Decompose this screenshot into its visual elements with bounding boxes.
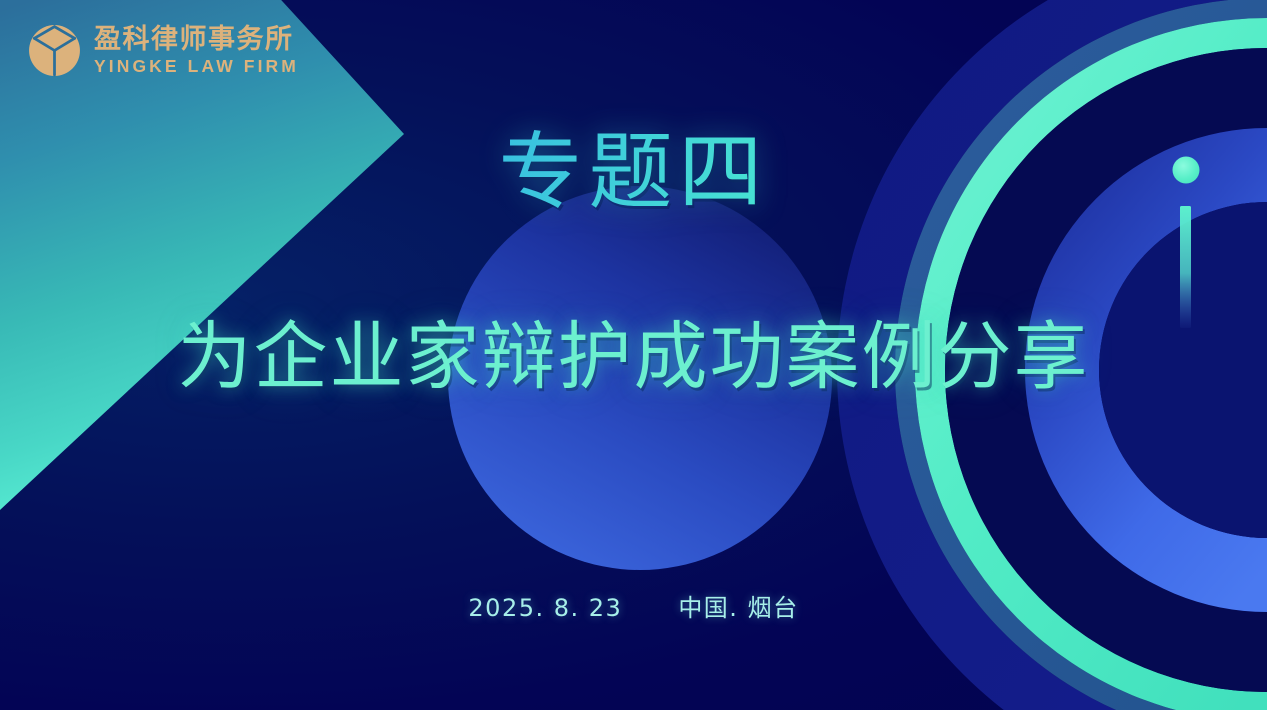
presentation-slide: 盈科律师事务所 YINGKE LAW FIRM 专题四 为企业家辩护成功案例分享… (0, 0, 1267, 710)
brand-logo: 盈科律师事务所 YINGKE LAW FIRM (28, 24, 299, 77)
slide-subtitle: 为企业家辩护成功案例分享 (0, 318, 1267, 398)
i-stem-icon (1180, 206, 1191, 328)
slide-date: 2025. 8. 23 (468, 594, 622, 622)
brand-name-en: YINGKE LAW FIRM (94, 58, 299, 76)
brand-name-cn: 盈科律师事务所 (94, 26, 299, 53)
brand-wordmark: 盈科律师事务所 YINGKE LAW FIRM (94, 26, 299, 76)
yingke-circle-y-logo-icon (28, 24, 81, 77)
slide-main-title: 专题四 (0, 128, 1267, 217)
slide-footer-meta: 2025. 8. 23 中国. 烟台 (0, 588, 1267, 623)
slide-location: 中国. 烟台 (678, 588, 798, 623)
